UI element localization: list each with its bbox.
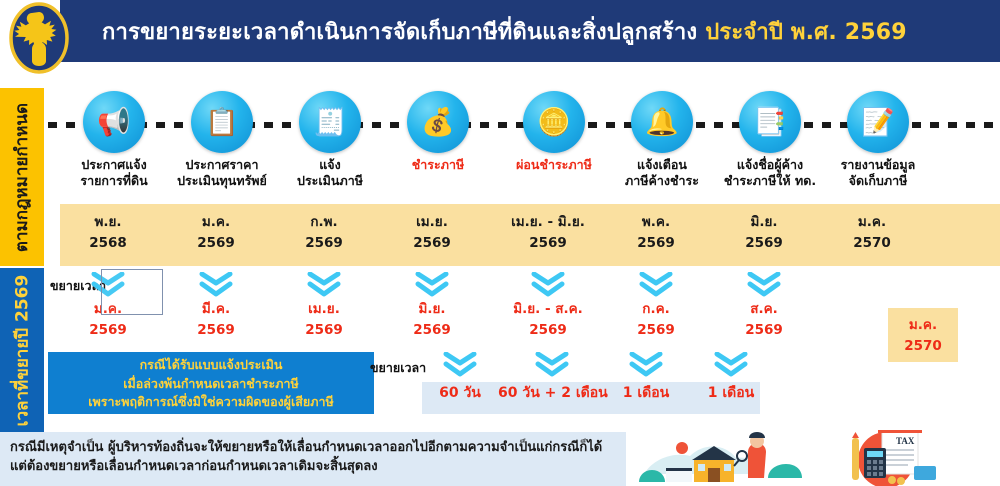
footer-note-line1: กรณีมีเหตุจำเป็น ผู้บริหารท้องถิ่นจะให้ข… bbox=[10, 439, 616, 458]
extension-cell-6[interactable]: ก.ค.2569 bbox=[596, 272, 716, 341]
duration-value-2: 60 วัน + 2 เดือน bbox=[498, 382, 606, 404]
sidebar-label-extension: เวลาที่ขยายปี 2569 bbox=[0, 268, 44, 433]
statutory-date-month-2: ม.ค. bbox=[156, 212, 276, 233]
statutory-date-year-6: 2569 bbox=[596, 233, 716, 254]
megaphone-icon-glyph: 📢 bbox=[97, 109, 131, 136]
double-chevron-down-icon-7 bbox=[747, 272, 781, 298]
tax-list-icon-glyph: 📑 bbox=[753, 109, 787, 136]
timeline-node-label-4: ชำระภาษี bbox=[384, 157, 492, 173]
double-chevron-down-icon-2 bbox=[199, 272, 233, 298]
megaphone-icon: 📢 bbox=[83, 91, 145, 153]
footer-note-line2: แต่ต้องขยายหรือเลื่อนกำหนดเวลาก่อนกำหนดเ… bbox=[10, 458, 616, 477]
garuda-emblem bbox=[8, 2, 70, 74]
statutory-date-month-4: เม.ย. bbox=[372, 212, 492, 233]
extension-cell-year-6: 2569 bbox=[596, 320, 716, 340]
statutory-date-month-1: พ.ย. bbox=[48, 212, 168, 233]
page-title: การขยายระยะเวลาดำเนินการจัดเก็บภาษีที่ดิ… bbox=[102, 14, 907, 49]
statutory-date-cell-3: ก.พ.2569 bbox=[264, 212, 384, 254]
double-chevron-down-icon-dur-2 bbox=[535, 352, 569, 378]
special-case-note-line2: เมื่อล่วงพ้นกำหนดเวลาชำระภาษี bbox=[48, 375, 374, 394]
page-title-year: ประจำปี พ.ศ. 2569 bbox=[705, 20, 907, 45]
statutory-date-cell-6: พ.ค.2569 bbox=[596, 212, 716, 254]
tax-form-icon-glyph: 🧾 bbox=[313, 109, 347, 136]
duration-value-3: 1 เดือน bbox=[606, 382, 686, 404]
alert-bell-icon: 🔔 bbox=[631, 91, 693, 153]
timeline-node-2[interactable]: 📋ประกาศราคา ประเมินทุนทรัพย์ bbox=[168, 86, 276, 189]
extension-cell-7[interactable]: ส.ค.2569 bbox=[704, 272, 824, 341]
statutory-date-month-8: ม.ค. bbox=[812, 212, 932, 233]
statutory-date-cell-7: มิ.ย.2569 bbox=[704, 212, 824, 254]
duration-cell-3: 1 เดือน bbox=[606, 352, 686, 404]
special-case-note-line3: เพราะพฤติการณ์ซึ่งมิใช่ความผิดของผู้เสีย… bbox=[48, 393, 374, 412]
extension-cell-2[interactable]: มี.ค.2569 bbox=[156, 272, 276, 341]
special-case-note: กรณีได้รับแบบแจ้งประเมิน เมื่อล่วงพ้นกำห… bbox=[48, 352, 374, 414]
timeline-node-8[interactable]: 📝รายงานข้อมูล จัดเก็บภาษี bbox=[824, 86, 932, 189]
sidebar-label-extension-text: เวลาที่ขยายปี 2569 bbox=[9, 275, 36, 427]
timeline-node-3[interactable]: 🧾แจ้ง ประเมินภาษี bbox=[276, 86, 384, 189]
report-checklist-icon: 📝 bbox=[847, 91, 909, 153]
extension-cell-year-4: 2569 bbox=[372, 320, 492, 340]
double-chevron-down-icon-3 bbox=[307, 272, 341, 298]
hand-coin-icon: 🪙 bbox=[523, 91, 585, 153]
report-checklist-icon-glyph: 📝 bbox=[861, 109, 895, 136]
timeline-node-label-5: ผ่อนชำระภาษี bbox=[500, 157, 608, 173]
timeline-node-7[interactable]: 📑แจ้งชื่อผู้ค้าง ชำระภาษีให้ ทด. bbox=[716, 86, 824, 189]
money-bag-icon: 💰 bbox=[407, 91, 469, 153]
alert-bell-icon-glyph: 🔔 bbox=[645, 109, 679, 136]
statutory-date-year-5: 2569 bbox=[488, 233, 608, 254]
duration-cell-1: 60 วัน bbox=[422, 352, 498, 404]
svg-text:TAX: TAX bbox=[896, 436, 915, 446]
extension-cell-year-2: 2569 bbox=[156, 320, 276, 340]
timeline-node-4[interactable]: 💰ชำระภาษี bbox=[384, 86, 492, 173]
timeline-node-label-8: รายงานข้อมูล จัดเก็บภาษี bbox=[824, 157, 932, 189]
extension-cell-month-3: เม.ย. bbox=[264, 299, 384, 319]
extension-cell-4[interactable]: มิ.ย.2569 bbox=[372, 272, 492, 341]
timeline-node-5[interactable]: 🪙ผ่อนชำระภาษี bbox=[500, 86, 608, 173]
extension-cell-year-1: 2569 bbox=[48, 320, 168, 340]
selection-highlight-box[interactable] bbox=[101, 269, 163, 315]
sidebar-label-statutory: ตามกฎหมายกำหนด bbox=[0, 88, 44, 266]
house-survey-illustration bbox=[636, 430, 816, 486]
extension-cell-month-2: มี.ค. bbox=[156, 299, 276, 319]
statutory-date-month-5: เม.ย. - มิ.ย. bbox=[488, 212, 608, 233]
duration-value-4: 1 เดือน bbox=[686, 382, 776, 404]
tax-form-icon: 🧾 bbox=[299, 91, 361, 153]
extension-cell-month-5: มิ.ย. - ส.ค. bbox=[488, 299, 608, 319]
timeline-node-label-1: ประกาศแจ้ง รายการที่ดิน bbox=[60, 157, 168, 189]
extension-cell-year-7: 2569 bbox=[704, 320, 824, 340]
footer-note: กรณีมีเหตุจำเป็น ผู้บริหารท้องถิ่นจะให้ข… bbox=[0, 432, 626, 486]
hand-coin-icon-glyph: 🪙 bbox=[537, 109, 571, 136]
extension-cell-year-5: 2569 bbox=[488, 320, 608, 340]
page-header: การขยายระยะเวลาดำเนินการจัดเก็บภาษีที่ดิ… bbox=[60, 0, 1000, 62]
statutory-date-month-6: พ.ค. bbox=[596, 212, 716, 233]
special-case-note-line1: กรณีได้รับแบบแจ้งประเมิน bbox=[48, 356, 374, 375]
duration-cell-4: 1 เดือน bbox=[686, 352, 776, 404]
timeline-node-label-6: แจ้งเตือน ภาษีค้างชำระ bbox=[608, 157, 716, 189]
timeline-node-label-3: แจ้ง ประเมินภาษี bbox=[276, 157, 384, 189]
statutory-date-month-3: ก.พ. bbox=[264, 212, 384, 233]
statutory-date-band: พ.ย.2568ม.ค.2569ก.พ.2569เม.ย.2569เม.ย. -… bbox=[60, 204, 1000, 266]
duration-cell-2: 60 วัน + 2 เดือน bbox=[498, 352, 606, 404]
double-chevron-down-icon-dur-3 bbox=[629, 352, 663, 378]
extension-end-chip: ม.ค. 2570 bbox=[888, 308, 958, 362]
statutory-date-month-7: มิ.ย. bbox=[704, 212, 824, 233]
extension-cell-month-7: ส.ค. bbox=[704, 299, 824, 319]
statutory-date-cell-5: เม.ย. - มิ.ย.2569 bbox=[488, 212, 608, 254]
double-chevron-down-icon-5 bbox=[531, 272, 565, 298]
extension-cell-3[interactable]: เม.ย.2569 bbox=[264, 272, 384, 341]
statutory-date-cell-8: ม.ค.2570 bbox=[812, 212, 932, 254]
timeline-node-label-7: แจ้งชื่อผู้ค้าง ชำระภาษีให้ ทด. bbox=[716, 157, 824, 189]
timeline-node-label-2: ประกาศราคา ประเมินทุนทรัพย์ bbox=[168, 157, 276, 189]
double-chevron-down-icon-6 bbox=[639, 272, 673, 298]
clipboard-assessment-icon-glyph: 📋 bbox=[205, 109, 239, 136]
statutory-date-year-4: 2569 bbox=[372, 233, 492, 254]
double-chevron-down-icon-dur-4 bbox=[714, 352, 748, 378]
statutory-date-year-1: 2568 bbox=[48, 233, 168, 254]
double-chevron-down-icon-4 bbox=[415, 272, 449, 298]
statutory-date-cell-1: พ.ย.2568 bbox=[48, 212, 168, 254]
statutory-date-year-3: 2569 bbox=[264, 233, 384, 254]
statutory-date-year-2: 2569 bbox=[156, 233, 276, 254]
statutory-date-year-8: 2570 bbox=[812, 233, 932, 254]
tax-list-icon: 📑 bbox=[739, 91, 801, 153]
statutory-date-year-7: 2569 bbox=[704, 233, 824, 254]
page-title-main: การขยายระยะเวลาดำเนินการจัดเก็บภาษีที่ดิ… bbox=[102, 20, 697, 45]
extension-end-chip-month: ม.ค. bbox=[888, 315, 958, 336]
money-bag-icon-glyph: 💰 bbox=[421, 109, 455, 136]
duration-value-1: 60 วัน bbox=[422, 382, 498, 404]
extension-row: ขยายเวลา ม.ค.2569มี.ค.2569เม.ย.2569มิ.ย.… bbox=[44, 268, 1000, 353]
tax-calculator-illustration: TAX bbox=[826, 430, 946, 486]
double-chevron-down-icon-dur-1 bbox=[443, 352, 477, 378]
extension-cell-year-3: 2569 bbox=[264, 320, 384, 340]
extension-cell-month-4: มิ.ย. bbox=[372, 299, 492, 319]
timeline-row: 📢ประกาศแจ้ง รายการที่ดิน📋ประกาศราคา ประเ… bbox=[48, 86, 1000, 204]
statutory-date-cell-4: เม.ย.2569 bbox=[372, 212, 492, 254]
duration-row: ขยายเวลา 60 วัน60 วัน + 2 เดือน1 เดือน1 … bbox=[370, 352, 760, 414]
statutory-date-cell-2: ม.ค.2569 bbox=[156, 212, 276, 254]
clipboard-assessment-icon: 📋 bbox=[191, 91, 253, 153]
sidebar-label-statutory-text: ตามกฎหมายกำหนด bbox=[9, 102, 36, 251]
timeline-node-1[interactable]: 📢ประกาศแจ้ง รายการที่ดิน bbox=[60, 86, 168, 189]
duration-row-label: ขยายเวลา bbox=[370, 358, 426, 378]
extension-cell-5[interactable]: มิ.ย. - ส.ค.2569 bbox=[488, 272, 608, 341]
extension-end-chip-year: 2570 bbox=[888, 336, 958, 357]
timeline-node-6[interactable]: 🔔แจ้งเตือน ภาษีค้างชำระ bbox=[608, 86, 716, 189]
extension-cell-month-6: ก.ค. bbox=[596, 299, 716, 319]
